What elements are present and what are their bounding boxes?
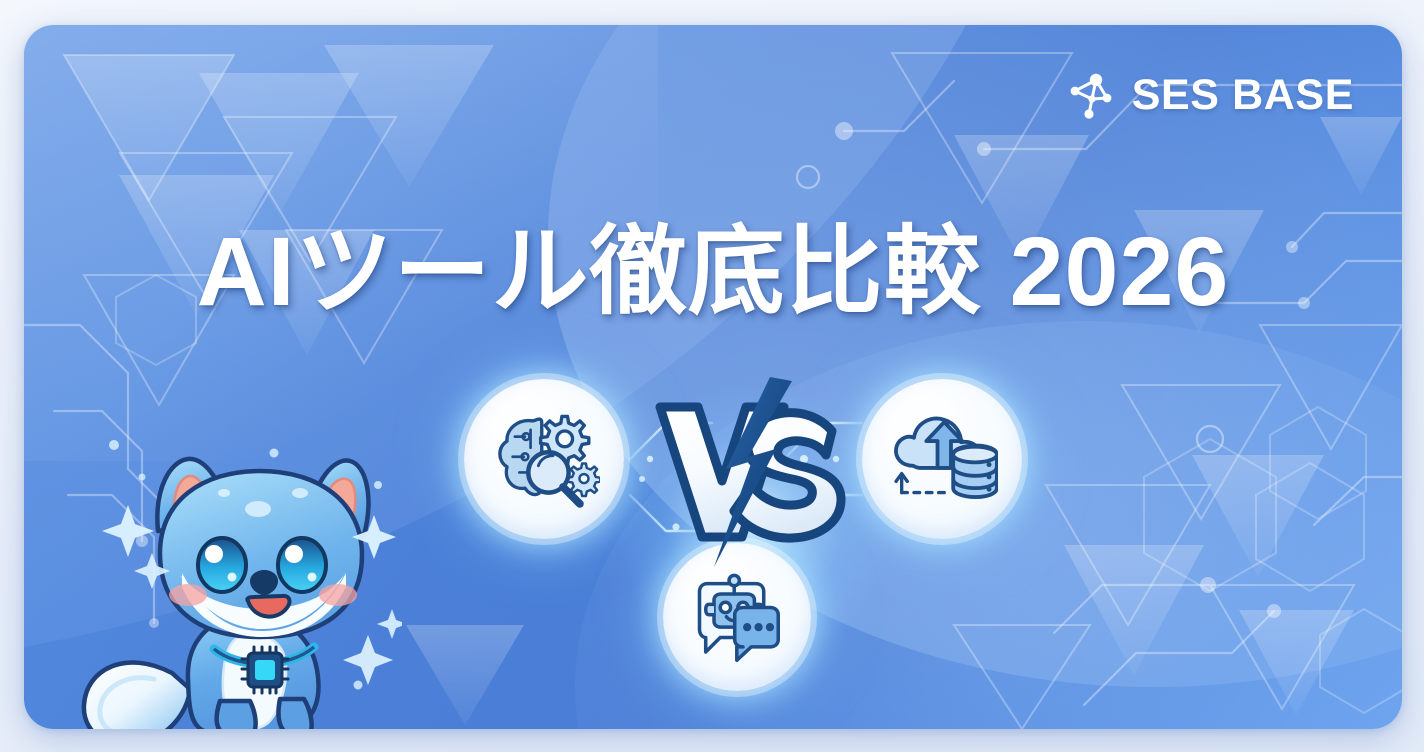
poster-canvas: SES BASE AIツール徹底比較 2026 bbox=[0, 0, 1424, 752]
hero-card: SES BASE AIツール徹底比較 2026 bbox=[24, 25, 1402, 729]
bubble-cloud-database[interactable] bbox=[862, 379, 1022, 539]
brand-name: SES BASE bbox=[1132, 74, 1354, 117]
page-title: AIツール徹底比較 2026 bbox=[24, 221, 1402, 323]
brand-logo[interactable]: SES BASE bbox=[1066, 69, 1354, 121]
bubble-brain-analysis[interactable] bbox=[464, 379, 624, 539]
versus-cluster: VS bbox=[444, 355, 1044, 695]
brain-gear-magnifier-icon bbox=[488, 403, 600, 515]
chatbot-speech-bubble-icon bbox=[685, 565, 789, 669]
network-nodes-icon bbox=[1066, 69, 1118, 121]
cloud-upload-database-icon bbox=[886, 403, 998, 515]
blue-fox-mascot bbox=[62, 423, 402, 729]
versus-badge: VS bbox=[642, 377, 857, 567]
